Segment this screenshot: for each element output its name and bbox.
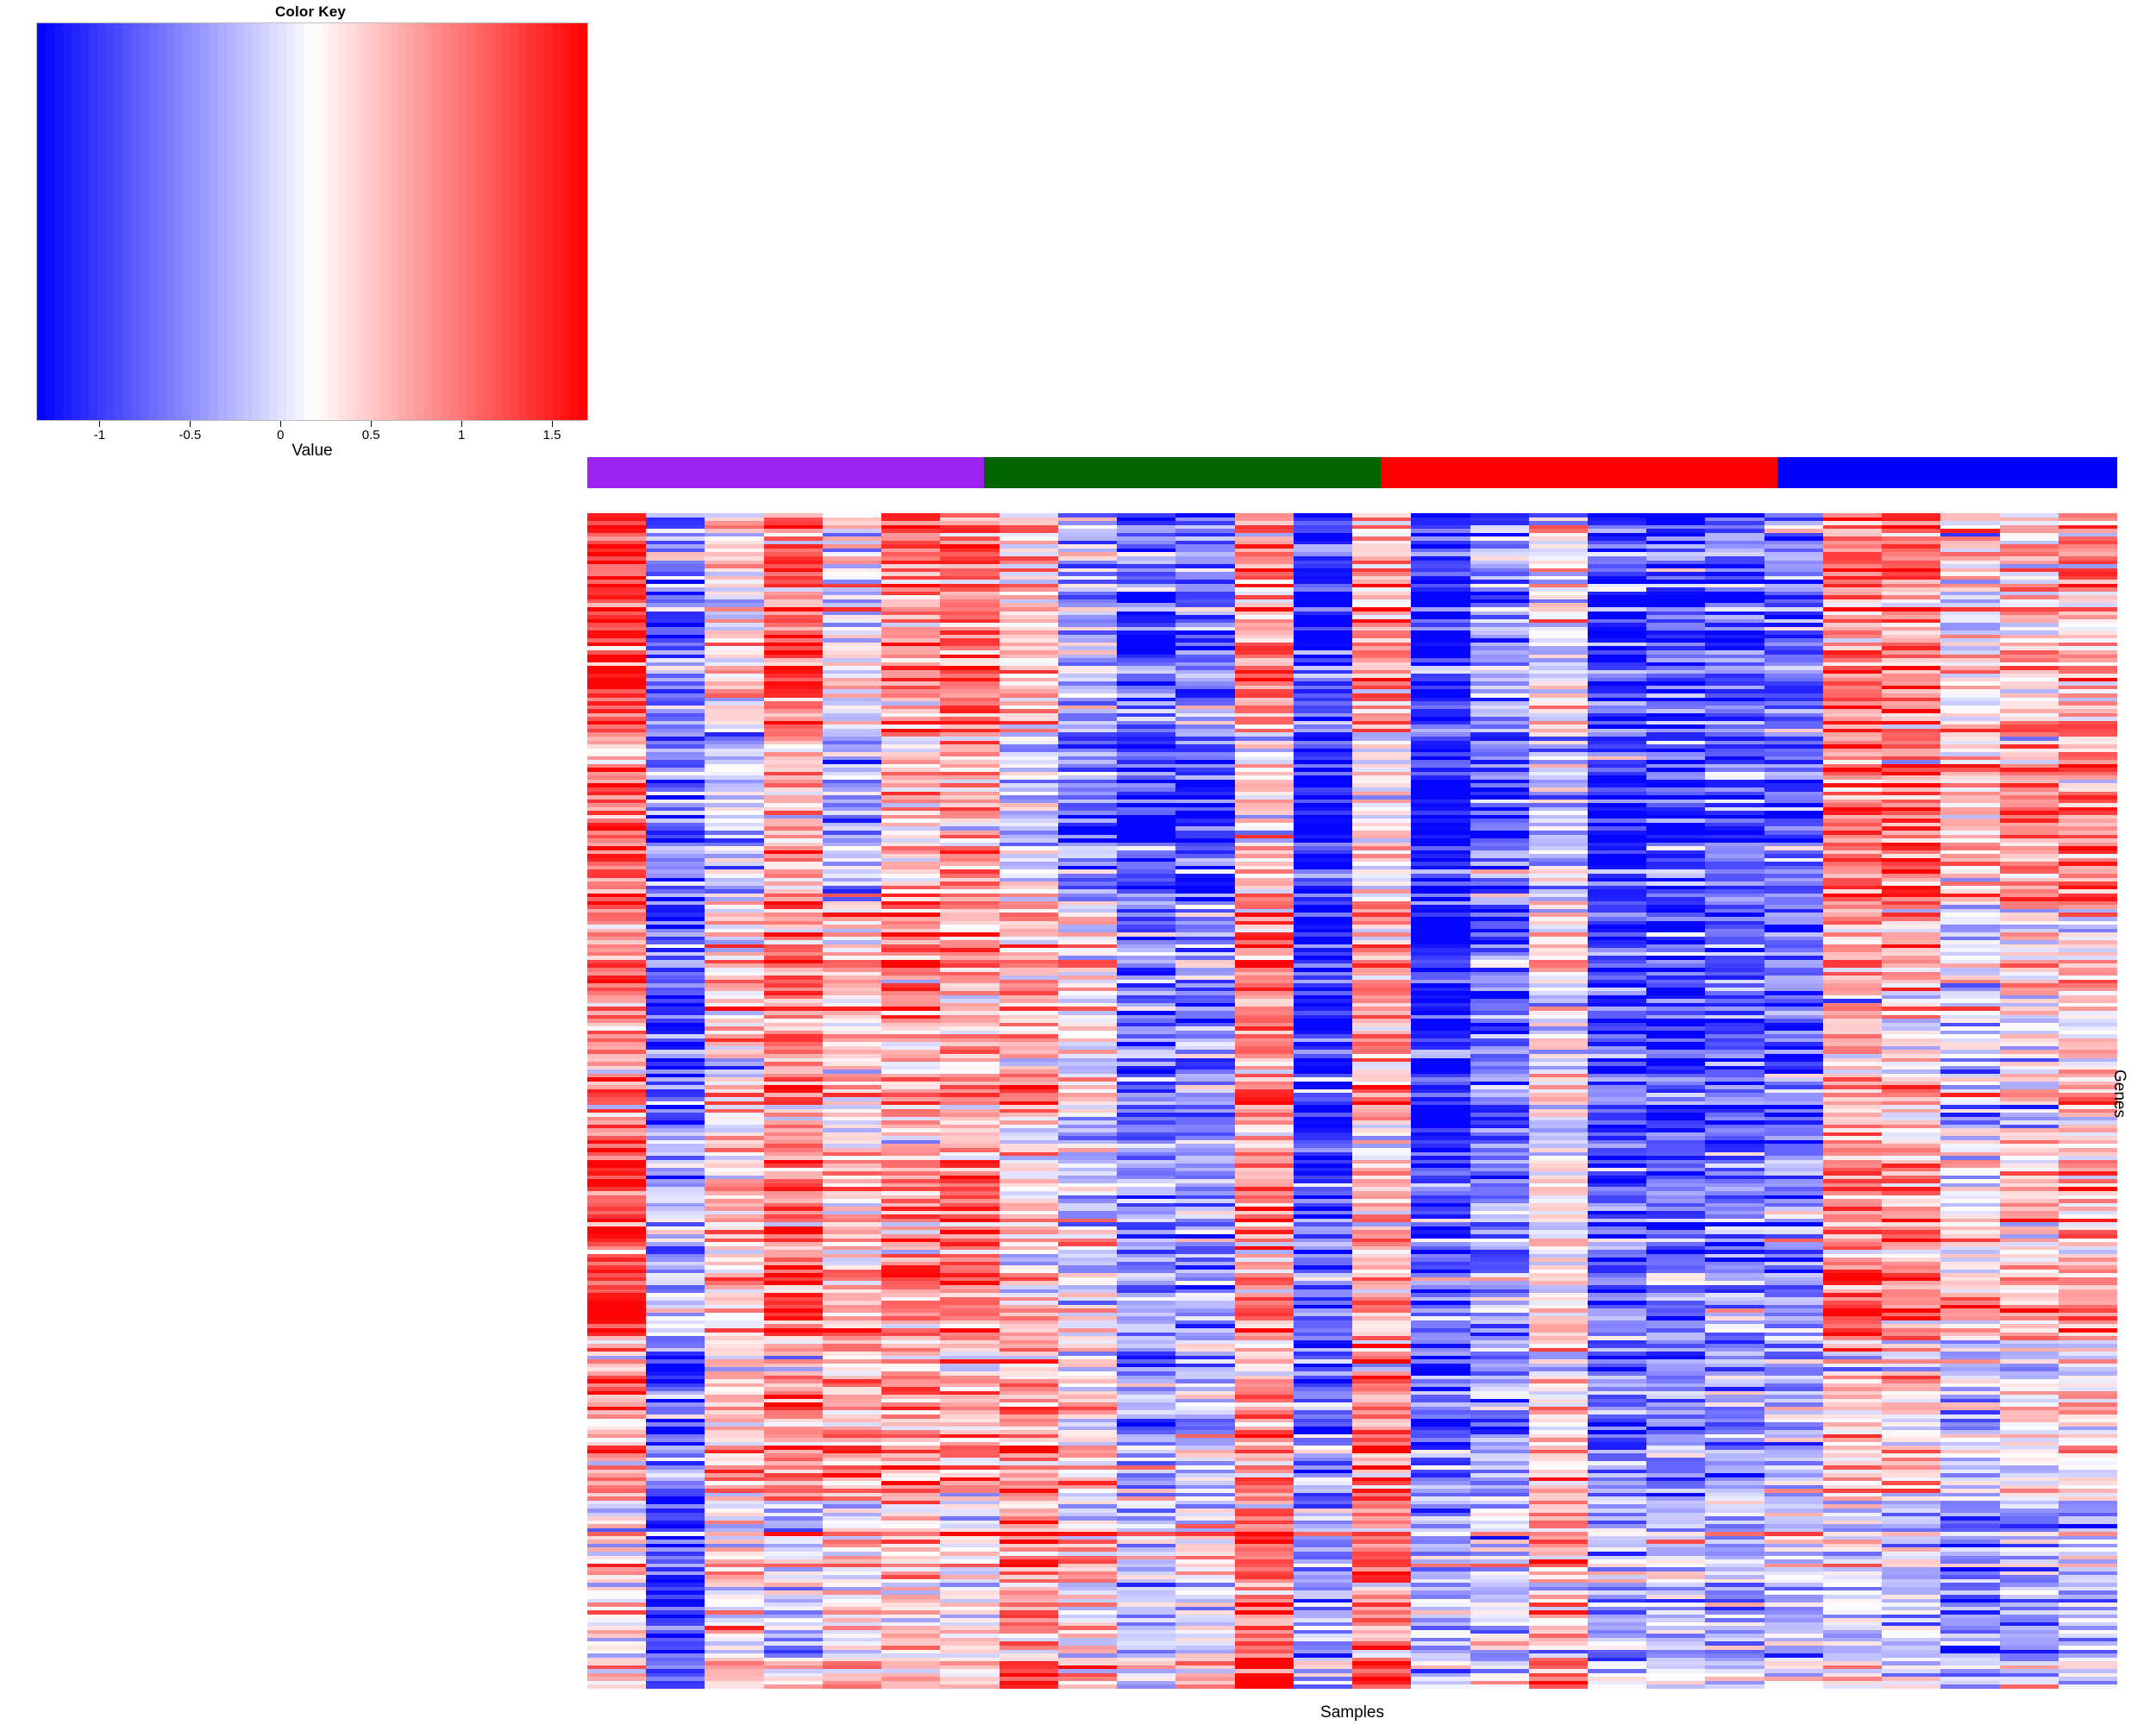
heatmap-column [587, 513, 646, 1689]
heatmap-cell [1175, 1684, 1234, 1689]
heatmap-cell [881, 1684, 940, 1689]
color-key-tick-label: 0.5 [362, 428, 380, 442]
heatmap-column [1235, 513, 1294, 1689]
heatmap-cell [646, 1684, 705, 1689]
heatmap-column [1352, 513, 1411, 1689]
heatmap-cell [1294, 1684, 1352, 1689]
group-blue [1777, 457, 2117, 488]
heatmap-cell [1470, 1684, 1529, 1689]
heatmap-panel [587, 457, 2117, 1689]
heatmap-matrix [587, 513, 2117, 1689]
heatmap-cell [1235, 1684, 1294, 1689]
color-key-tick-label: -1 [94, 428, 105, 442]
heatmap-cell [1352, 1684, 1411, 1689]
heatmap-column [1058, 513, 1117, 1689]
heatmap-cell [1411, 1684, 1470, 1689]
color-key-tick-mark [99, 421, 100, 427]
heatmap-column [705, 513, 763, 1689]
color-key-panel: Color Key -1-0.500.511.5 Value [0, 0, 621, 470]
color-key-gradient [37, 23, 587, 420]
color-key-title: Color Key [0, 3, 621, 21]
heatmap-cell [587, 1684, 646, 1689]
color-key-tick-mark [371, 421, 372, 427]
group-green [984, 457, 1381, 488]
color-key-tick-mark [190, 421, 191, 427]
heatmap-cell [1000, 1684, 1058, 1689]
group-purple [587, 457, 984, 488]
heatmap-cell [940, 1684, 999, 1689]
heatmap-column [881, 513, 940, 1689]
heatmap-column [646, 513, 705, 1689]
color-key-tick-mark [552, 421, 553, 427]
color-key-tick-mark [461, 421, 462, 427]
color-key-gradient-box [36, 22, 588, 421]
color-key-tick-mark [280, 421, 281, 427]
color-key-tick-label: 1.5 [543, 428, 561, 442]
heatmap-column [940, 513, 999, 1689]
heatmap-column [1411, 513, 1470, 1689]
heatmap-column [1117, 513, 1175, 1689]
color-key-tick-label: -0.5 [179, 428, 201, 442]
color-key-axis-label: Value [36, 442, 588, 461]
heatmap-column [1175, 513, 1234, 1689]
group-red [1381, 457, 1777, 488]
heatmap-column [1294, 513, 1352, 1689]
sample-group-annotation-bar [587, 457, 2117, 488]
color-key-tick-label: 1 [458, 428, 465, 442]
heatmap-cell [705, 1684, 763, 1689]
heatmap-column [1529, 513, 1588, 1689]
heatmap-cell [1058, 1684, 1117, 1689]
heatmap-cell [1117, 1684, 1175, 1689]
heatmap-column [1470, 513, 1529, 1689]
heatmap-cell [823, 1684, 881, 1689]
heatmap-column [823, 513, 881, 1689]
heatmap-column [764, 513, 823, 1689]
color-key-tick-label: 0 [277, 428, 284, 442]
heatmap-column [1000, 513, 1058, 1689]
heatmap-cell [764, 1684, 823, 1689]
